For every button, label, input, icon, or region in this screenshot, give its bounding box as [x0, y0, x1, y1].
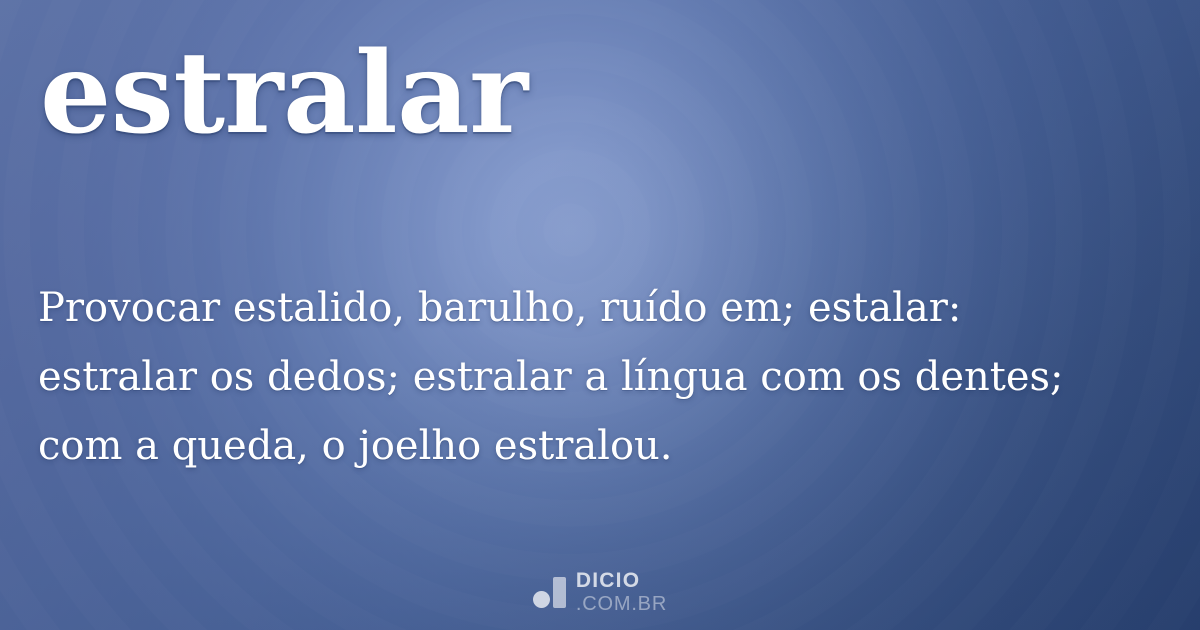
dicio-logo-text: DICIO .COM.BR: [576, 570, 667, 614]
dictionary-og-card: estralar Provocar estalido, barulho, ruí…: [0, 0, 1200, 630]
bar-mark-icon: [553, 577, 566, 608]
dicio-logo-tld: .COM.BR: [576, 594, 667, 614]
card-content: estralar Provocar estalido, barulho, ruí…: [0, 0, 1200, 630]
dicio-logo-name: DICIO: [576, 570, 640, 591]
circle-mark-icon: [533, 591, 550, 608]
dicio-logo[interactable]: DICIO .COM.BR: [0, 570, 1200, 614]
dicio-logo-mark: [533, 575, 567, 609]
headword-title: estralar: [40, 38, 528, 150]
definition-text: Provocar estalido, barulho, ruído em; es…: [38, 274, 1108, 481]
